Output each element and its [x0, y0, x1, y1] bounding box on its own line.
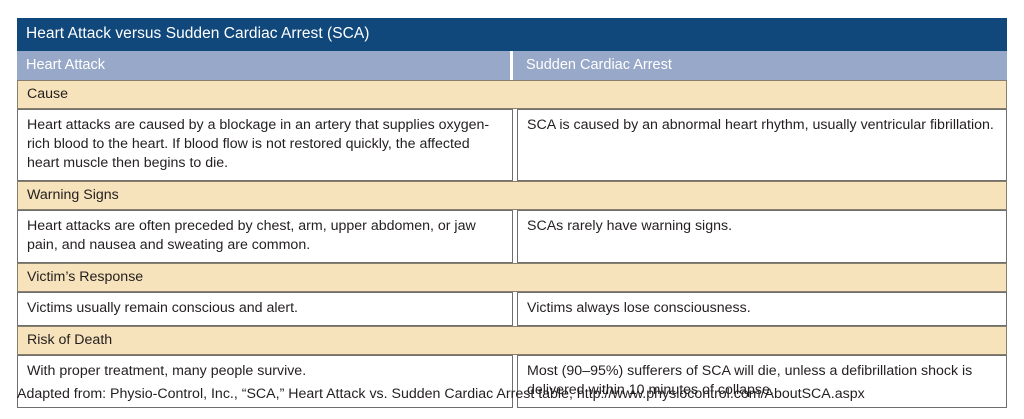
- section-header-row-victims-response: Victim’s Response: [17, 263, 1007, 292]
- cell-warning-signs-heart-attack: Heart attacks are often preceded by ches…: [17, 210, 513, 263]
- table-row-cause: Heart attacks are caused by a blockage i…: [17, 109, 1007, 181]
- cell-victims-response-sca: Victims always lose consciousness.: [517, 292, 1007, 326]
- table-title-row: Heart Attack versus Sudden Cardiac Arres…: [17, 18, 1007, 51]
- section-header-row-warning-signs: Warning Signs: [17, 181, 1007, 210]
- cell-victims-response-heart-attack: Victims usually remain conscious and ale…: [17, 292, 513, 326]
- table-title: Heart Attack versus Sudden Cardiac Arres…: [17, 18, 1007, 51]
- table-row-warning-signs: Heart attacks are often preceded by ches…: [17, 210, 1007, 263]
- column-header-row: Heart Attack Sudden Cardiac Arrest: [17, 51, 1007, 81]
- section-header-row-cause: Cause: [17, 80, 1007, 109]
- cell-cause-sca: SCA is caused by an abnormal heart rhyth…: [517, 109, 1007, 181]
- column-header-sudden-cardiac-arrest: Sudden Cardiac Arrest: [517, 51, 1007, 81]
- heart-attack-vs-sca-table: Heart Attack versus Sudden Cardiac Arres…: [17, 18, 1007, 408]
- section-heading-victims-response: Victim’s Response: [17, 263, 1007, 292]
- cell-warning-signs-sca: SCAs rarely have warning signs.: [517, 210, 1007, 263]
- section-heading-cause: Cause: [17, 80, 1007, 109]
- section-header-row-risk-of-death: Risk of Death: [17, 326, 1007, 355]
- source-citation: Adapted from: Physio-Control, Inc., “SCA…: [17, 386, 1017, 403]
- section-heading-warning-signs: Warning Signs: [17, 181, 1007, 210]
- comparison-table-figure: Heart Attack versus Sudden Cardiac Arres…: [0, 0, 1024, 419]
- cell-cause-heart-attack: Heart attacks are caused by a blockage i…: [17, 109, 513, 181]
- table-row-victims-response: Victims usually remain conscious and ale…: [17, 292, 1007, 326]
- column-header-heart-attack: Heart Attack: [17, 51, 513, 81]
- table-container: Heart Attack versus Sudden Cardiac Arres…: [17, 18, 1007, 408]
- section-heading-risk-of-death: Risk of Death: [17, 326, 1007, 355]
